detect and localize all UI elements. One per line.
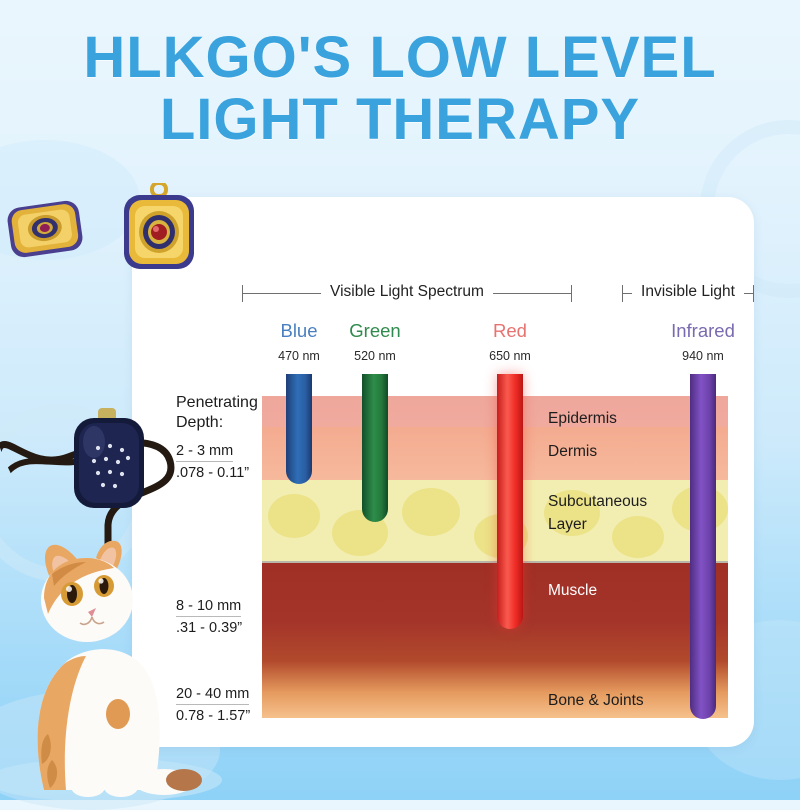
bracket-cap-right — [753, 285, 754, 302]
poster-stage: HLKGO'S LOW LEVEL LIGHT THERAPY Visible … — [0, 0, 800, 800]
column-header-red: Red 650 nm — [450, 320, 570, 363]
fat-cell — [268, 494, 320, 538]
label-bone-joints: Bone & Joints — [548, 692, 644, 710]
layer-epidermis — [262, 396, 728, 427]
page-title: HLKGO'S LOW LEVEL LIGHT THERAPY — [0, 30, 800, 147]
cat-photo — [0, 528, 240, 800]
column-name: Green — [315, 320, 435, 342]
column-name: Infrared — [643, 320, 763, 342]
light-bar-infrared — [690, 374, 716, 719]
fat-cell — [402, 488, 460, 536]
title-line-2: LIGHT THERAPY — [0, 92, 800, 148]
pendant-gold-small — [2, 193, 88, 265]
label-epidermis: Epidermis — [548, 410, 617, 428]
fat-cell — [612, 516, 664, 558]
light-bar-red — [497, 374, 523, 629]
layer-bone-joints — [262, 661, 728, 718]
visible-light-bracket: Visible Light Spectrum — [242, 284, 572, 302]
skin-cross-section — [262, 396, 728, 718]
bracket-cap-left — [622, 285, 623, 302]
invisible-light-label: Invisible Light — [632, 283, 744, 301]
bracket-cap-left — [242, 285, 243, 302]
column-wavelength: 940 nm — [643, 349, 763, 363]
bracket-cap-right — [571, 285, 572, 302]
pendant-gold-large — [118, 183, 200, 275]
layer-muscle — [262, 563, 728, 661]
column-name: Red — [450, 320, 570, 342]
column-wavelength: 520 nm — [315, 349, 435, 363]
label-dermis: Dermis — [548, 443, 597, 461]
column-wavelength: 650 nm — [450, 349, 570, 363]
label-subcutaneous-layer: Layer — [548, 516, 587, 534]
column-header-infrared: Infrared 940 nm — [643, 320, 763, 363]
layer-subcutaneous — [262, 480, 728, 563]
column-header-green: Green 520 nm — [315, 320, 435, 363]
invisible-light-bracket: Invisible Light — [622, 284, 754, 302]
pendant-dark-dotted — [70, 408, 148, 512]
light-bar-blue — [286, 374, 312, 484]
label-subcutaneous: Subcutaneous — [548, 493, 647, 511]
visible-light-label: Visible Light Spectrum — [321, 283, 493, 301]
title-line-1: HLKGO'S LOW LEVEL — [0, 30, 800, 86]
layer-dermis — [262, 427, 728, 480]
light-bar-green — [362, 374, 388, 522]
label-muscle: Muscle — [548, 582, 597, 600]
